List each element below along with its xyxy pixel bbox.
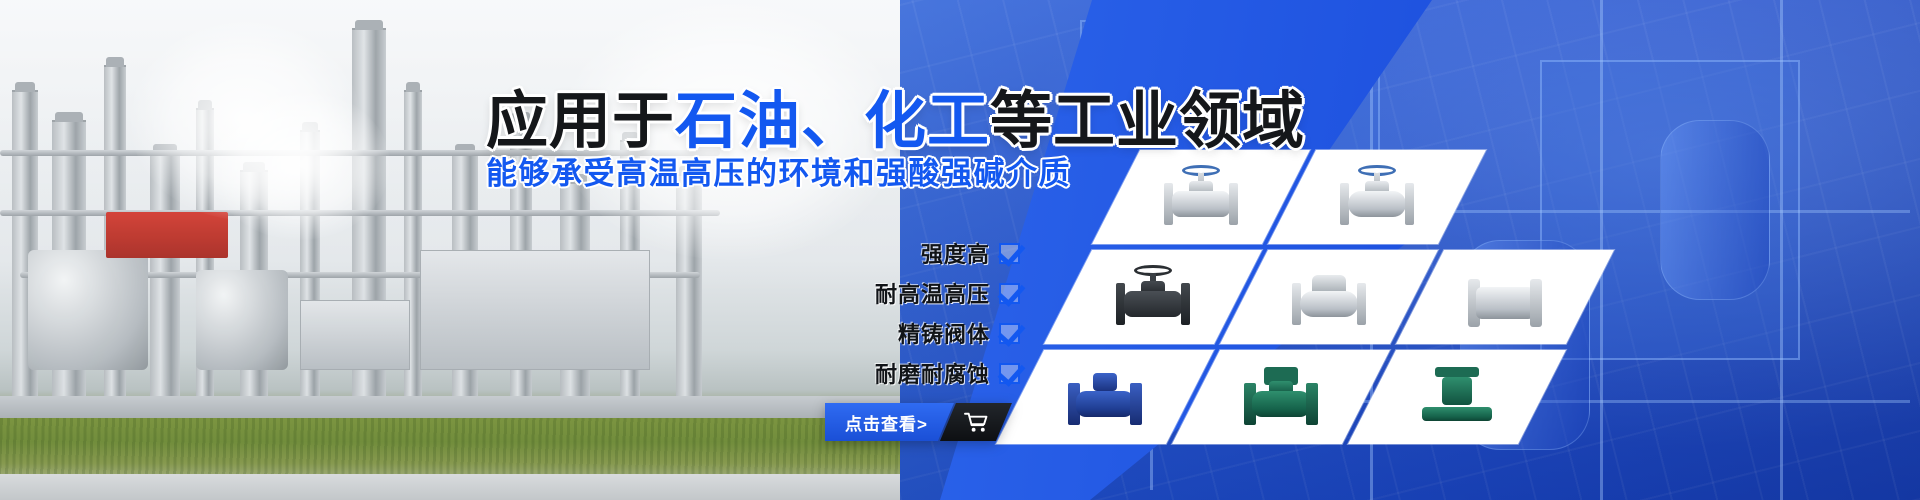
feature-label: 强度高 bbox=[921, 237, 990, 269]
product-row bbox=[1068, 250, 1590, 344]
checkbox-checked-icon bbox=[999, 363, 1020, 384]
feature-label: 耐磨耐腐蚀 bbox=[875, 357, 990, 389]
shopping-cart-icon bbox=[963, 411, 989, 433]
headline-part-1: 应用于 bbox=[486, 87, 675, 156]
feature-label: 耐高温高压 bbox=[875, 277, 990, 309]
checkbox-checked-icon bbox=[999, 243, 1020, 264]
gate-valve-steel-icon bbox=[1158, 161, 1244, 233]
flanged-check-valve-icon bbox=[1462, 261, 1548, 333]
product-thumbnail-grid bbox=[1020, 150, 1640, 450]
swing-check-valve-steel-icon bbox=[1286, 261, 1372, 333]
cta-button[interactable]: 点击查看> bbox=[825, 403, 1012, 441]
steam-plume bbox=[210, 90, 390, 240]
headline-part-2: 等工业领域 bbox=[990, 87, 1305, 156]
feature-item: 耐磨耐腐蚀 bbox=[875, 357, 1020, 389]
flanged-valve-green-icon bbox=[1414, 361, 1500, 433]
headline-highlight: 石油、化工 bbox=[675, 87, 990, 156]
support-column bbox=[1780, 0, 1783, 500]
product-row bbox=[1116, 150, 1462, 244]
checkbox-checked-icon bbox=[999, 283, 1020, 304]
feature-item: 精铸阀体 bbox=[898, 317, 1020, 349]
forged-gate-valve-black-icon bbox=[1110, 261, 1196, 333]
feature-item: 耐高温高压 bbox=[875, 277, 1020, 309]
banner-subheadline: 能够承受高温高压的环境和强酸强碱介质 bbox=[486, 148, 1071, 193]
feature-checklist: 强度高 耐高温高压 精铸阀体 耐磨耐腐蚀 bbox=[700, 237, 1020, 389]
lined-ball-valve-blue-icon bbox=[1062, 361, 1148, 433]
lever-ball-valve-green-icon bbox=[1238, 361, 1324, 433]
storage-cylinder bbox=[1660, 120, 1770, 300]
globe-valve-steel-icon bbox=[1334, 161, 1420, 233]
cta-label[interactable]: 点击查看> bbox=[825, 403, 954, 441]
checkbox-checked-icon bbox=[999, 323, 1020, 344]
feature-item: 强度高 bbox=[921, 237, 1020, 269]
promo-banner: 应用于石油、化工等工业领域 能够承受高温高压的环境和强酸强碱介质 强度高 耐高温… bbox=[0, 0, 1920, 500]
product-row bbox=[1020, 350, 1542, 444]
banner-headline: 应用于石油、化工等工业领域 bbox=[486, 70, 1305, 160]
feature-label: 精铸阀体 bbox=[898, 317, 990, 349]
